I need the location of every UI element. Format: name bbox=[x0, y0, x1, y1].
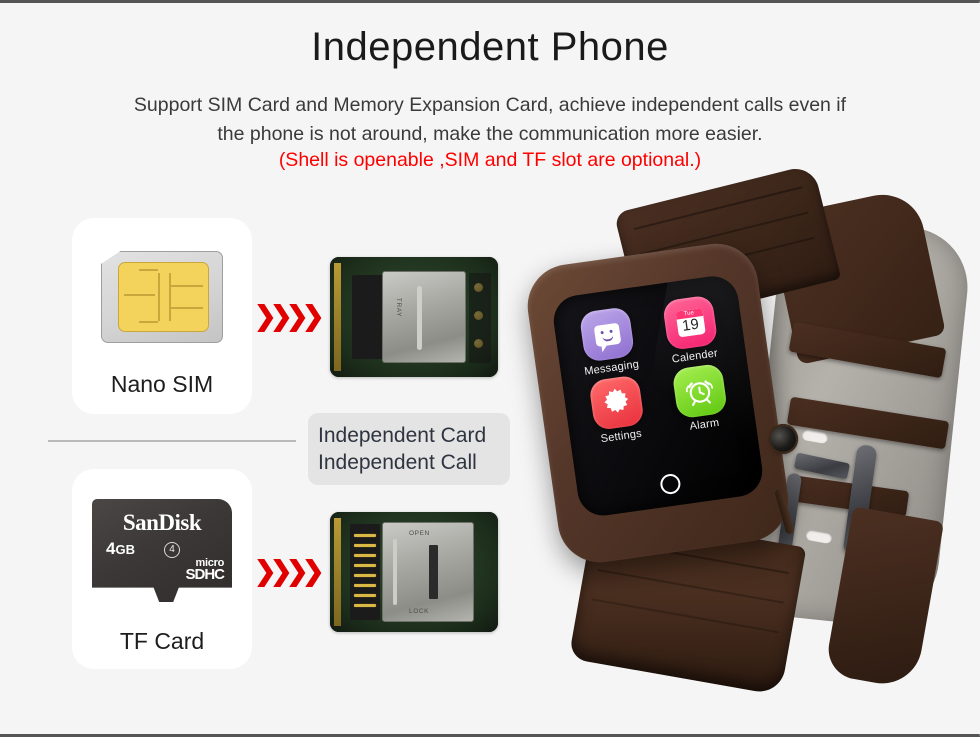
speech-bubble-shape bbox=[593, 322, 621, 346]
alarm-glyph bbox=[681, 372, 719, 410]
pcb-gold-edge bbox=[334, 263, 341, 371]
gold-pin bbox=[354, 594, 376, 597]
infographic-page: Independent Phone Support SIM Card and M… bbox=[0, 3, 980, 734]
speed-class-icon: 4 bbox=[164, 542, 180, 558]
chevron-right-icon: ❯ bbox=[254, 303, 269, 329]
app-messaging[interactable]: Messaging bbox=[566, 304, 650, 379]
calendar-page: Tue 19 bbox=[675, 308, 705, 338]
callout-line-1: Independent Card bbox=[318, 422, 510, 449]
gear-glyph bbox=[597, 384, 635, 422]
chip-line bbox=[169, 273, 171, 322]
chevron-right-icon: ❯ bbox=[302, 558, 317, 584]
connector-housing bbox=[469, 273, 491, 363]
nano-sim-icon bbox=[101, 251, 223, 343]
gold-pin bbox=[354, 604, 376, 607]
chevron-right-icon: ❯ bbox=[286, 558, 301, 584]
tf-shield-housing: OPEN LOCK bbox=[382, 522, 474, 622]
gold-pin bbox=[354, 544, 376, 547]
eject-slot bbox=[429, 545, 438, 599]
pcb-gold-edge bbox=[334, 518, 341, 626]
sandisk-brand-label: SanDisk bbox=[92, 510, 232, 536]
chip-line bbox=[158, 273, 160, 322]
gold-pin bbox=[354, 554, 376, 557]
chip-line bbox=[124, 294, 154, 296]
capacity-label: 4GB bbox=[106, 539, 135, 559]
home-button[interactable] bbox=[659, 473, 682, 496]
calendar-icon: Tue 19 bbox=[662, 295, 718, 351]
watch-app-grid: Messaging Tue 19 Calender bbox=[566, 293, 743, 448]
app-label: Alarm bbox=[666, 414, 743, 436]
sim-card-slot-photo: TRAY bbox=[330, 257, 498, 377]
chevron-right-icon: ❯ bbox=[286, 303, 301, 329]
subtitle-line-1: Support SIM Card and Memory Expansion Ca… bbox=[134, 94, 846, 116]
capacity-unit: GB bbox=[115, 542, 135, 557]
gold-pin bbox=[354, 564, 376, 567]
format-suffix: SDHC bbox=[185, 569, 224, 580]
chevron-right-icon: ❯ bbox=[302, 303, 317, 329]
subtitle-line-2: the phone is not around, make the commun… bbox=[217, 123, 762, 145]
smiley-mouth bbox=[602, 334, 614, 341]
gold-pin bbox=[354, 574, 376, 577]
tf-card-label: TF Card bbox=[72, 628, 252, 655]
tray-groove bbox=[393, 539, 397, 605]
alarm-clock-icon bbox=[672, 363, 728, 419]
open-marking: OPEN bbox=[409, 530, 430, 537]
watch-screen[interactable]: Messaging Tue 19 Calender bbox=[550, 273, 765, 519]
section-divider bbox=[48, 440, 296, 442]
microsd-card-body: SanDisk 4GB 4 micro SDHC bbox=[92, 499, 232, 602]
app-settings[interactable]: Settings bbox=[575, 373, 659, 448]
smiley-eye bbox=[609, 329, 612, 332]
chevron-right-icon: ❯ bbox=[254, 558, 269, 584]
smiley-eye bbox=[600, 330, 603, 333]
microsd-card-icon: SanDisk 4GB 4 micro SDHC bbox=[92, 499, 232, 602]
smartwatch-product-image: Messaging Tue 19 Calender bbox=[520, 183, 980, 703]
chip-line bbox=[171, 307, 203, 309]
sim-flow-arrows: ❯ ❯ ❯ ❯ bbox=[254, 303, 317, 329]
page-subtitle: Support SIM Card and Memory Expansion Ca… bbox=[50, 91, 930, 149]
app-alarm[interactable]: Alarm bbox=[659, 361, 743, 436]
watch-case: Messaging Tue 19 Calender bbox=[522, 238, 793, 567]
page-title: Independent Phone bbox=[0, 25, 980, 70]
app-calender[interactable]: Tue 19 Calender bbox=[649, 293, 733, 368]
tf-flow-arrows: ❯ ❯ ❯ ❯ bbox=[254, 558, 317, 584]
chevron-right-icon: ❯ bbox=[270, 303, 285, 329]
chip-line bbox=[139, 269, 159, 271]
tf-card-panel: SanDisk 4GB 4 micro SDHC TF Card bbox=[72, 469, 252, 669]
nano-sim-label: Nano SIM bbox=[72, 371, 252, 398]
calendar-day: 19 bbox=[676, 315, 705, 337]
gold-pin bbox=[354, 534, 376, 537]
nano-sim-card-panel: Nano SIM bbox=[72, 218, 252, 414]
sim-chip-contacts bbox=[118, 262, 209, 332]
app-label: Settings bbox=[583, 425, 660, 447]
tf-card-slot-photo: OPEN LOCK bbox=[330, 512, 498, 632]
independent-callout-box: Independent Card Independent Call bbox=[308, 413, 510, 485]
gear-icon bbox=[588, 375, 644, 431]
microsdhc-logo: micro SDHC bbox=[185, 558, 224, 580]
lock-marking: LOCK bbox=[409, 608, 429, 615]
chevron-right-icon: ❯ bbox=[270, 558, 285, 584]
chip-line bbox=[139, 321, 159, 323]
message-bubble-icon bbox=[579, 306, 635, 362]
chip-line bbox=[171, 285, 203, 287]
callout-line-2: Independent Call bbox=[318, 449, 510, 476]
gold-pin bbox=[354, 584, 376, 587]
tray-marking: TRAY bbox=[395, 298, 402, 317]
tray-groove bbox=[417, 286, 422, 350]
sim-tray: TRAY bbox=[382, 271, 466, 363]
